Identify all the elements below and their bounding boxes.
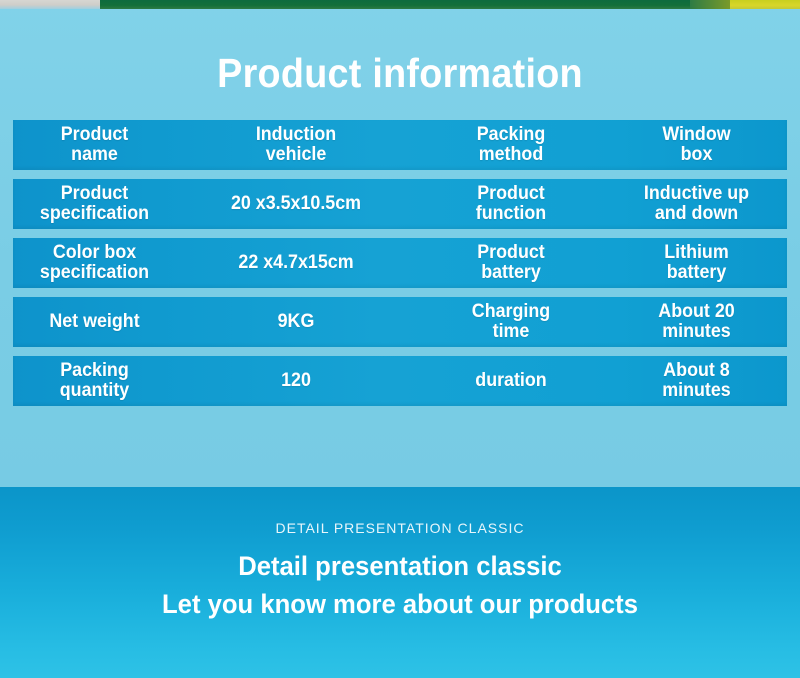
spec-label-right: Productbattery <box>422 243 601 283</box>
spec-label-left: Packingquantity <box>18 361 171 401</box>
strip-segment-olive <box>690 0 730 9</box>
spec-label-left: Net weight <box>18 312 171 332</box>
strip-segment-gray <box>0 0 100 9</box>
spec-label-left: Productspecification <box>18 184 171 224</box>
footer-subhead: Let you know more about our products <box>20 585 780 623</box>
spec-value-left: Inductionvehicle <box>183 125 409 165</box>
footer-kicker: DETAIL PRESENTATION CLASSIC <box>0 520 800 536</box>
table-row: Packingquantity 120 duration About 8minu… <box>13 356 787 406</box>
spec-value-right: Inductive upand down <box>611 184 781 224</box>
bottom-panel: DETAIL PRESENTATION CLASSIC Detail prese… <box>0 487 800 678</box>
table-row: Productname Inductionvehicle Packingmeth… <box>13 120 787 170</box>
product-info-banner: Product information Productname Inductio… <box>0 0 800 678</box>
spec-value-right: Windowbox <box>611 125 781 165</box>
strip-segment-yellow <box>730 0 800 9</box>
spec-label-right: Chargingtime <box>422 302 601 342</box>
table-row: Color boxspecification 22 x4.7x15cm Prod… <box>13 238 787 288</box>
spec-value-right: About 8minutes <box>611 361 781 401</box>
spec-label-right: Packingmethod <box>422 125 601 165</box>
table-row: Productspecification 20 x3.5x10.5cm Prod… <box>13 179 787 229</box>
specification-table: Productname Inductionvehicle Packingmeth… <box>13 120 787 406</box>
spec-label-left: Productname <box>18 125 171 165</box>
footer-headline: Detail presentation classic <box>20 547 780 585</box>
spec-value-right: Lithiumbattery <box>611 243 781 283</box>
spec-label-right: Productfunction <box>422 184 601 224</box>
table-row: Net weight 9KG Chargingtime About 20minu… <box>13 297 787 347</box>
spec-value-left: 120 <box>183 371 409 391</box>
spec-value-left: 20 x3.5x10.5cm <box>183 194 409 214</box>
spec-label-right: duration <box>422 371 601 391</box>
page-title: Product information <box>32 50 768 97</box>
spec-label-left: Color boxspecification <box>18 243 171 283</box>
spec-value-left: 22 x4.7x15cm <box>183 253 409 273</box>
strip-segment-green <box>100 0 690 9</box>
spec-value-left: 9KG <box>183 312 409 332</box>
top-color-strip <box>0 0 800 9</box>
spec-value-right: About 20minutes <box>611 302 781 342</box>
